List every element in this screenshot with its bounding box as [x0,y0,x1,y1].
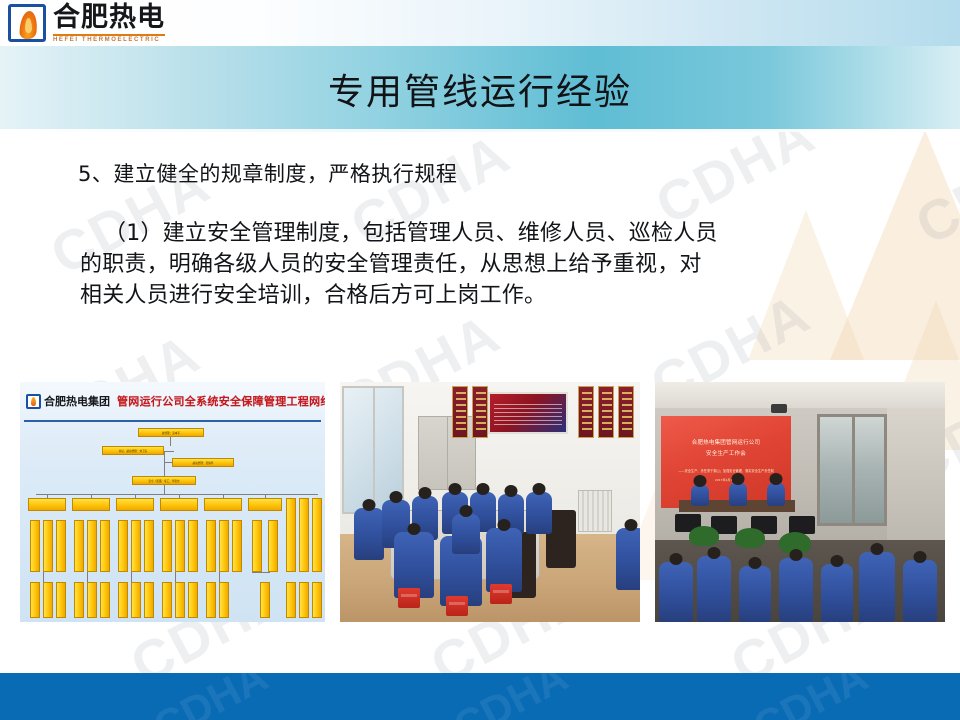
stool [490,584,512,604]
org-node-leaf [30,582,40,618]
person [697,556,731,622]
org-node-leaf [162,582,172,618]
honor-banner [598,386,614,438]
org-node-team [87,520,97,572]
org-connector [131,572,132,582]
org-node-team [188,520,198,572]
footer-watermark: CDHA [446,652,576,720]
org-chart-divider [24,420,321,422]
brand-logo: 合肥热电 HEFEI THERMOELECTRIC [8,4,165,43]
presentation-slide: CDHA CDHA CDHA CDHA CDHA CDHA CDHA CDHA … [0,0,960,720]
org-node-team [219,520,229,572]
org-node-team [268,520,278,572]
org-node-leaf [118,582,128,618]
page-title: 专用管线运行经验 [328,63,632,115]
org-node-department [248,498,282,511]
radiator [578,490,612,532]
org-connector [164,485,165,494]
potted-plant [735,528,765,548]
safety-poster [488,392,568,434]
org-node-department [116,498,154,511]
org-node-level1: 总经理：高本军 [138,428,204,437]
side-wall [887,408,945,540]
person [779,558,813,622]
person [739,566,771,622]
slide-body: 5、建立健全的规章制度，严格执行规程 （1）建立安全管理制度，包括管理人员、维修… [0,132,960,312]
org-node-leaf [144,582,154,618]
org-connector [164,451,174,452]
org-node-label: 副总经理：张保华 [173,459,233,468]
honor-banner [472,386,488,438]
org-connector [43,572,44,582]
flame-in-frame-icon [26,394,41,409]
photo-strip: 合肥热电集团 管网运行公司全系统安全保障管理工程网络图 总经理：高本军 书记、副… [0,382,960,622]
org-node-leaf [206,582,216,618]
org-node-level3: 安全（质量）专工：李贤志 [132,476,196,485]
brand-name-cn: 合肥热电 [53,4,165,32]
body-paragraph: （1）建立安全管理制度，包括管理人员、维修人员、巡检人员 的职责，明确各级人员的… [80,218,870,312]
org-connector [36,494,304,495]
org-node-team [74,520,84,572]
org-connector [175,572,176,582]
paragraph-line: 的职责，明确各级人员的安全管理责任，从思想上给予重视，对 [80,249,870,280]
projection-line-3: ——安全生产、责任重于泰山；加强安全管理、落实安全生产责任制 [667,468,785,473]
org-connector [265,494,266,498]
org-node-team [43,520,53,572]
org-brand-name-cn: 合肥热电集团 [44,396,110,407]
org-node-leaf [299,582,309,618]
person [616,528,640,590]
org-node-team [252,520,262,572]
org-connector [179,494,180,498]
org-node-label: 总经理：高本军 [139,429,203,438]
org-connector [219,572,220,582]
org-connector [286,494,318,495]
org-connector [164,462,173,463]
projection-line-1: 合肥热电集团管网运行公司 [661,438,791,446]
footer-watermark: CDHA [146,652,276,720]
person [452,514,480,554]
org-node-team [56,520,66,572]
org-node-leaf [100,582,110,618]
org-node-leaf [56,582,66,618]
org-node-team [162,520,172,572]
org-node-team [175,520,185,572]
org-node-leaf [87,582,97,618]
slide-title-band: 专用管线运行经验 [0,46,960,132]
org-node-leaf [43,582,53,618]
org-connector [135,494,136,498]
honor-banner [578,386,594,438]
org-chart-body: 总经理：高本军 书记、副总经理：刘卫东 副总经理：张保华 安全（质量）专工：李贤… [20,424,325,622]
honor-banner [452,386,468,438]
meeting-room-scene [340,382,640,622]
projection-line-2: 安全生产工作会 [661,449,791,457]
person [354,508,384,560]
footer-bar: CDHA CDHA CDHA [0,673,960,720]
safety-production-conference-photo: 合肥热电集团管网运行公司 安全生产工作会 ——安全生产、责任重于泰山；加强安全管… [655,382,945,622]
org-node-team [100,520,110,572]
org-node-team [30,520,40,572]
person [859,552,895,622]
footer-watermark: CDHA [746,652,876,720]
org-connector [223,494,224,498]
org-node-department [72,498,110,511]
org-node-leaf [260,582,270,618]
org-chart-header: 合肥热电集团 管网运行公司全系统安全保障管理工程网络图 [20,382,325,420]
org-node-leaf [188,582,198,618]
stool [398,588,420,608]
person [659,562,693,622]
org-chart-photo: 合肥热电集团 管网运行公司全系统安全保障管理工程网络图 总经理：高本军 书记、副… [20,382,325,622]
org-node-leaf [312,582,322,618]
safety-meeting-photo [340,382,640,622]
conference-scene: 合肥热电集团管网运行公司 安全生产工作会 ——安全生产、责任重于泰山；加强安全管… [655,382,945,622]
org-node-leaf [131,582,141,618]
org-connector [252,572,270,573]
glass-door [817,414,887,526]
org-node-team [144,520,154,572]
stool [446,596,468,616]
projector-icon [771,404,787,413]
org-connector [170,437,171,446]
brand-rule [53,34,165,36]
org-node-side-column [299,498,309,572]
org-node-department [160,498,198,511]
org-node-side-column [312,498,322,572]
org-node-leaf [286,582,296,618]
brand-logo-text: 合肥热电 HEFEI THERMOELECTRIC [53,4,165,43]
org-brand-logo: 合肥热电集团 [26,394,110,409]
person [767,482,785,506]
org-chart-canvas: 合肥热电集团 管网运行公司全系统安全保障管理工程网络图 总经理：高本军 书记、副… [20,382,325,622]
org-node-team [131,520,141,572]
org-connector [91,494,92,498]
person [903,560,937,622]
person [729,482,747,506]
org-node-leaf [219,582,229,618]
org-node-label: 书记、副总经理：刘卫东 [103,447,163,456]
ceiling [655,382,945,408]
person [486,528,522,592]
paragraph-line: （1）建立安全管理制度，包括管理人员、维修人员、巡检人员 [80,218,870,249]
org-node-leaf [175,582,185,618]
org-connector [47,494,48,498]
org-node-side-column [286,498,296,572]
org-connector [164,451,165,476]
org-node-leaf [74,582,84,618]
person [821,564,853,622]
honor-banner [618,386,634,438]
paragraph-line: 相关人员进行安全培训，合格后方可上岗工作。 [80,280,870,311]
flame-in-frame-icon [8,4,46,42]
person [526,492,552,534]
org-node-level2b: 副总经理：张保华 [172,458,234,467]
org-chart-title: 管网运行公司全系统安全保障管理工程网络图 [117,393,325,409]
org-node-team [232,520,242,572]
org-node-team [206,520,216,572]
person [691,484,709,506]
org-connector [87,572,88,582]
org-node-team [118,520,128,572]
org-node-level2a: 书记、副总经理：刘卫东 [102,446,164,455]
org-node-department [204,498,242,511]
brand-name-en: HEFEI THERMOELECTRIC [53,37,165,43]
potted-plant [689,526,719,546]
org-node-department [28,498,66,511]
section-heading: 5、建立健全的规章制度，严格执行规程 [78,158,960,188]
